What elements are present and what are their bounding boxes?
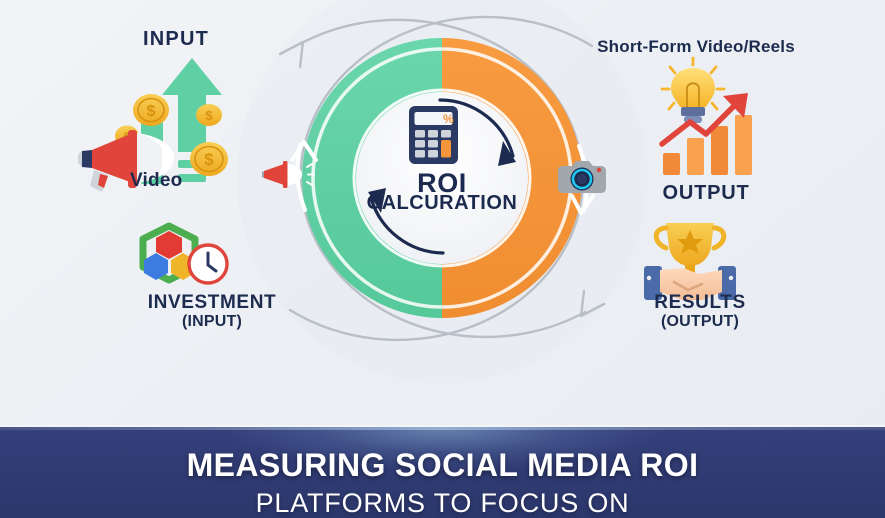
infographic-root: % [0, 0, 885, 518]
clock-icon [189, 245, 227, 283]
label-video: Video [130, 170, 240, 192]
label-results-title: RESULTS [600, 292, 800, 314]
label-roi-subtitle: CALCURATION [332, 192, 552, 215]
svg-text:$: $ [205, 108, 213, 123]
label-output: OUTPUT [626, 182, 786, 205]
hexagon-cluster-icon [143, 226, 195, 280]
bottom-title-banner: MEASURING SOCIAL MEDIA ROI PLATFORMS TO … [0, 425, 885, 518]
svg-text:$: $ [147, 103, 156, 120]
lightbulb-icon [662, 58, 724, 123]
label-short-form-video-reels: Short-Form Video/Reels [566, 37, 826, 57]
label-investment-subtitle: (INPUT) [112, 313, 312, 331]
label-results-subtitle: (OUTPUT) [600, 313, 800, 331]
growth-bar-chart-icon [662, 93, 752, 175]
label-investment-title: INVESTMENT [112, 292, 312, 314]
banner-title: MEASURING SOCIAL MEDIA ROI [0, 447, 885, 484]
calculator-icon: % [409, 106, 458, 164]
svg-text:$: $ [204, 150, 214, 169]
banner-subtitle: PLATFORMS TO FOCUS ON [0, 488, 885, 518]
svg-text:%: % [443, 112, 454, 126]
roi-cycle-diagram: % [0, 0, 885, 420]
label-input: INPUT [106, 28, 246, 51]
